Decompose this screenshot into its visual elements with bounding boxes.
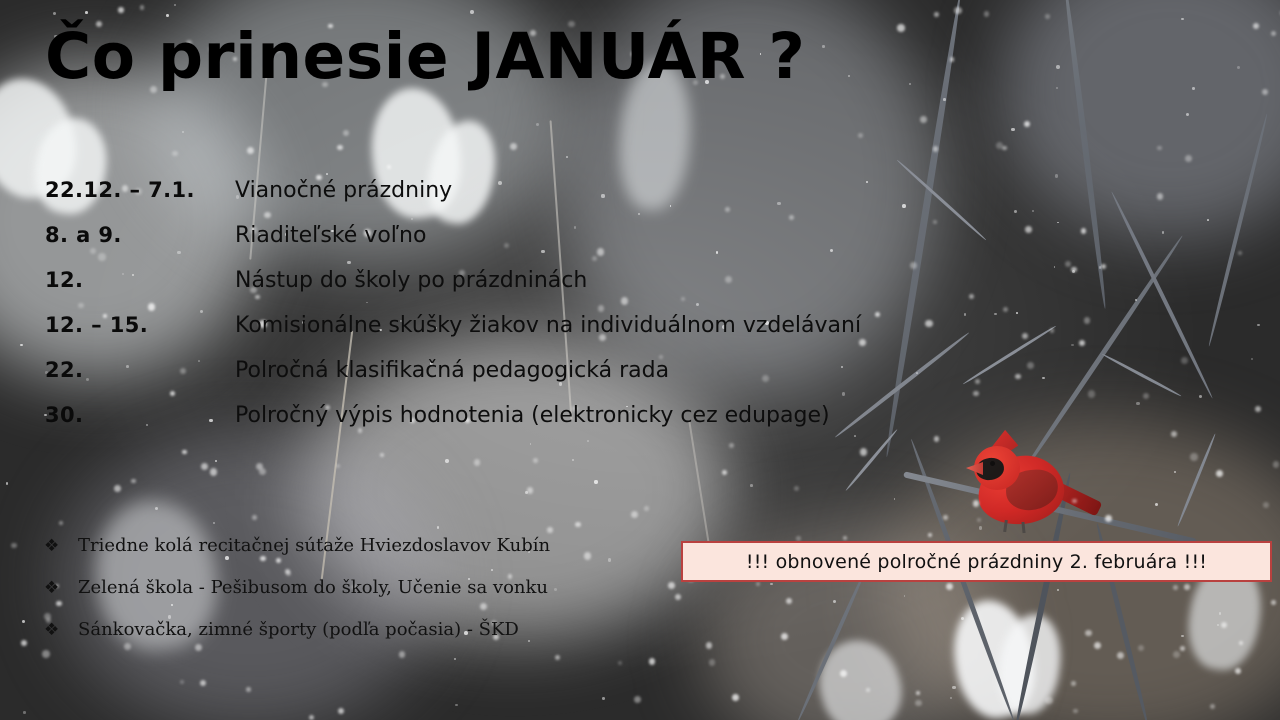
schedule-row: 8. a 9. Riaditeľské voľno xyxy=(45,223,861,268)
schedule-description: Nástup do školy po prázdninách xyxy=(235,268,587,293)
diamond-bullet-icon: ❖ xyxy=(44,580,78,597)
list-item: ❖ Zelená škola - Pešibusom do školy, Uče… xyxy=(44,577,550,619)
highlight-note-box: !!! obnovené polročné prázdniny 2. febru… xyxy=(681,541,1272,582)
list-item: ❖ Triedne kolá recitačnej súťaže Hviezdo… xyxy=(44,535,550,577)
schedule-description: Polročný výpis hodnotenia (elektronicky … xyxy=(235,403,830,428)
highlight-note-text: !!! obnovené polročné prázdniny 2. febru… xyxy=(746,551,1207,573)
schedule-date: 22. xyxy=(45,358,235,382)
schedule-row: 12. – 15. Komisionálne skúšky žiakov na … xyxy=(45,313,861,358)
schedule-date: 12. xyxy=(45,268,235,292)
list-item-label: Sánkovačka, zimné športy (podľa počasia)… xyxy=(78,619,519,640)
schedule-date: 8. a 9. xyxy=(45,223,235,247)
schedule-row: 22. Polročná klasifikačná pedagogická ra… xyxy=(45,358,861,403)
schedule-description: Riaditeľské voľno xyxy=(235,223,426,248)
schedule-description: Komisionálne skúšky žiakov na individuál… xyxy=(235,313,861,338)
schedule-date: 12. – 15. xyxy=(45,313,235,337)
list-item: ❖ Sánkovačka, zimné športy (podľa počasi… xyxy=(44,619,550,661)
bullet-list: ❖ Triedne kolá recitačnej súťaže Hviezdo… xyxy=(44,535,550,661)
schedule-row: 22.12. – 7.1. Vianočné prázdniny xyxy=(45,178,861,223)
schedule-date: 22.12. – 7.1. xyxy=(45,178,235,202)
slide-canvas: Čo prinesie JANUÁR ? 22.12. – 7.1. Viano… xyxy=(0,0,1280,720)
schedule-row: 12. Nástup do školy po prázdninách xyxy=(45,268,861,313)
schedule-list: 22.12. – 7.1. Vianočné prázdniny 8. a 9.… xyxy=(45,178,861,448)
list-item-label: Triedne kolá recitačnej súťaže Hviezdosl… xyxy=(78,535,550,556)
schedule-date: 30. xyxy=(45,403,235,427)
diamond-bullet-icon: ❖ xyxy=(44,538,78,555)
schedule-description: Polročná klasifikačná pedagogická rada xyxy=(235,358,669,383)
schedule-row: 30. Polročný výpis hodnotenia (elektroni… xyxy=(45,403,861,448)
list-item-label: Zelená škola - Pešibusom do školy, Učeni… xyxy=(78,577,548,598)
diamond-bullet-icon: ❖ xyxy=(44,622,78,639)
page-title: Čo prinesie JANUÁR ? xyxy=(45,22,805,91)
schedule-description: Vianočné prázdniny xyxy=(235,178,452,203)
